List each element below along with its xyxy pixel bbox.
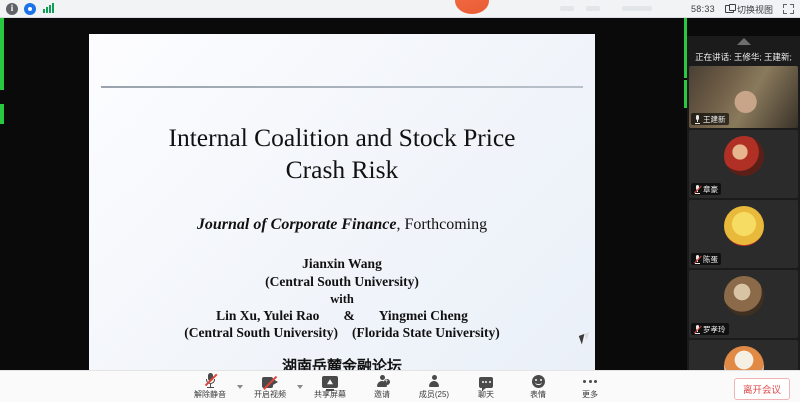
slide-title-line-1: Internal Coalition and Stock Price [119, 122, 565, 154]
participant-namebar: 章豪 [691, 183, 721, 195]
share-screen-button[interactable]: 共享屏幕 [304, 371, 356, 402]
microphone-muted-icon [694, 185, 701, 194]
avatar [724, 276, 764, 316]
microphone-icon [694, 115, 701, 124]
slide-coauthor-affiliations: (Central South University)(Florida State… [109, 325, 575, 341]
participant-name: 罗孝玲 [703, 324, 726, 335]
unmute-label: 解除静音 [194, 389, 226, 400]
slide-title: Internal Coalition and Stock Price Crash… [119, 122, 565, 186]
leave-meeting-button[interactable]: 离开会议 [734, 378, 790, 400]
chat-label: 聊天 [478, 389, 494, 400]
emoji-icon [532, 373, 545, 388]
strip-ghost-3 [622, 6, 652, 11]
unmute-button[interactable]: 解除静音 [184, 371, 236, 402]
more-label: 更多 [582, 389, 598, 400]
more-dots-icon [583, 373, 597, 388]
browser-toolbar-strip: i [0, 0, 800, 18]
strip-ghost-2 [586, 6, 600, 11]
signal-bars-icon[interactable] [42, 3, 55, 14]
participants-label: 成员(25) [419, 389, 449, 400]
avatar [724, 206, 764, 246]
invite-label: 邀请 [374, 389, 390, 400]
slide-divider-rule [101, 86, 583, 88]
video-stage: Internal Coalition and Stock Price Crash… [0, 18, 800, 370]
active-speaker-indicator-left-2 [0, 104, 4, 124]
audio-options-caret-icon[interactable] [237, 385, 243, 389]
avatar [724, 136, 764, 176]
invite-button[interactable]: + 邀请 [356, 371, 408, 402]
emoji-button[interactable]: 表情 [512, 371, 564, 402]
participant-namebar: 王建新 [691, 113, 729, 125]
coauthors-right: Yingmei Cheng [379, 308, 468, 323]
mic-muted-icon [205, 373, 216, 388]
slide-journal-line: Journal of Corporate Finance, Forthcomin… [109, 216, 575, 234]
microphone-muted-icon [694, 255, 701, 264]
chat-button[interactable]: 聊天 [460, 371, 512, 402]
slide-coauthors: Lin Xu, Yulei Rao&Yingmei Cheng [109, 308, 575, 324]
journal-name: Journal of Corporate Finance [197, 216, 397, 233]
video-options-caret-icon[interactable] [297, 385, 303, 389]
scroll-up-arrow-icon[interactable] [737, 38, 751, 45]
emoji-label: 表情 [530, 389, 546, 400]
participants-button[interactable]: 成员(25) [408, 371, 460, 402]
start-video-label: 开启视频 [254, 389, 286, 400]
shared-slide[interactable]: Internal Coalition and Stock Price Crash… [89, 34, 595, 376]
participants-filmstrip[interactable]: 正在讲话: 王修华; 王建新; 王建新 章豪 [687, 36, 800, 388]
slide-author-affiliation: (Central South University) [109, 274, 575, 290]
meeting-controls-toolbar: 解除静音 开启视频 共享屏幕 + 邀请 成员(25) 聊天 表情 [0, 370, 800, 402]
participant-name: 王建新 [703, 114, 726, 125]
coauthors-left: Lin Xu, Yulei Rao [216, 308, 319, 323]
start-video-button[interactable]: 开启视频 [244, 371, 296, 402]
participant-namebar: 罗孝玲 [691, 323, 729, 335]
active-speaker-banner: 正在讲话: 王修华; 王建新; [687, 50, 800, 65]
chat-icon [479, 373, 493, 388]
affiliation-right: (Florida State University) [352, 325, 500, 340]
participant-tile[interactable]: 罗孝玲 [689, 270, 798, 338]
participant-name: 陈蛋 [703, 254, 718, 265]
journal-status: , Forthcoming [396, 216, 487, 233]
share-screen-icon [322, 373, 338, 388]
browser-notification-blob [455, 0, 489, 14]
participant-name: 章豪 [703, 184, 718, 195]
blue-dot-icon[interactable] [24, 3, 36, 15]
participant-tile[interactable]: 陈蛋 [689, 200, 798, 268]
slide-with-label: with [109, 292, 575, 307]
participant-namebar: 陈蛋 [691, 253, 721, 265]
participants-icon [428, 373, 441, 388]
slide-author-name: Jianxin Wang [109, 256, 575, 272]
info-icon[interactable]: i [6, 3, 18, 15]
coauthors-amp: & [343, 308, 354, 323]
camera-off-icon [262, 373, 278, 388]
microphone-muted-icon [694, 325, 701, 334]
strip-ghost-1 [560, 6, 574, 11]
more-button[interactable]: 更多 [564, 371, 616, 402]
slide-title-line-2: Crash Risk [119, 154, 565, 186]
participant-tile[interactable]: 章豪 [689, 130, 798, 198]
affiliation-left: (Central South University) [184, 325, 338, 340]
participant-tile[interactable]: 王建新 [689, 66, 798, 128]
active-speaker-indicator-left-1 [0, 18, 4, 90]
invite-person-icon: + [376, 373, 389, 388]
